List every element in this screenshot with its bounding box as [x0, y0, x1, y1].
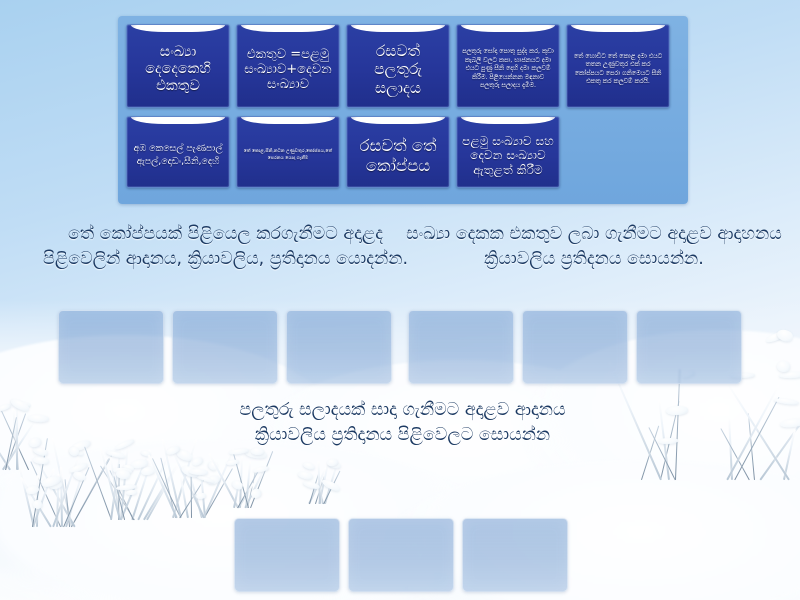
card-enter-two-numbers[interactable]: පළමු සංඛ්‍යාව සහ දෙවන සංඛ්‍යාව ඇතුළත් කි… [456, 116, 560, 188]
card-label: සංඛ්‍යා දෙදෙකෙහි එකතුව [132, 44, 224, 95]
snow-clump [191, 456, 204, 468]
card-tea-making-process[interactable]: තේ හොඩිට තේ කොළ දමා එයට තතන උණුවතුර එක් … [566, 24, 670, 108]
snow-clump [666, 405, 688, 416]
card-tasty-fruit-salad[interactable]: රසවත් පලතුරු සලාදය [346, 24, 450, 108]
snow-cap-icon [131, 116, 225, 124]
snow-cap-icon [351, 116, 445, 124]
card-label: එකතුව =පළමු සංඛ්‍යාව+දෙවන සංඛ්‍යාව [242, 47, 334, 93]
snow-clump [303, 461, 316, 470]
question-fruitsalad: පලතුරු සලාදයක් සාදා ගැනීමට අදාළව ආදානය ක… [205, 398, 600, 449]
card-row-1: සංඛ්‍යා දෙදෙකෙහි එකතුවඑකතුව =පළමු සංඛ්‍ය… [126, 24, 670, 108]
dropzone-salad-output[interactable] [462, 518, 568, 592]
grass-blade [734, 397, 779, 481]
card-label: අඹ කෙසෙල් පැණපාල් ඇපල්,දොඩං,සීනි,දෙහි [132, 143, 224, 167]
snow-cap-icon [241, 116, 335, 124]
snow-clump [658, 437, 678, 444]
snow-clump [33, 456, 49, 465]
card-sum-formula[interactable]: එකතුව =පළමු සංඛ්‍යාව+දෙවන සංඛ්‍යාව [236, 24, 340, 108]
grass-blade [60, 467, 63, 527]
dropzone-tea-process[interactable] [172, 310, 278, 384]
card-label: රසවත් තේ කෝප්පය [352, 136, 444, 175]
card-row-2: අඹ කෙසෙල් පැණපාල් ඇපල්,දොඩං,සීනි,දෙහිතේ … [126, 116, 560, 188]
card-label: තේ හොඩිට තේ කොළ දමා එයට තතන උණුවතුර එක් … [572, 53, 664, 87]
card-tray: සංඛ්‍යා දෙදෙකෙහි එකතුවඑකතුව =පළමු සංඛ්‍ය… [118, 16, 688, 204]
card-label: තේ කොළ,සීනි,නටන උණුවතුර,කෝප්පය,තේ පෙරනය … [242, 149, 334, 162]
snow-cap-icon [241, 24, 335, 32]
question-sum: සංඛ්‍යා දෙකක එකතුව ලබා ගැනීමට අදාළව ආදාහ… [405, 222, 783, 273]
snow-clump [297, 471, 313, 481]
snow-clump [195, 492, 206, 500]
grass-tuft [0, 400, 30, 470]
snow-cap-icon [461, 24, 555, 32]
snow-clump [189, 469, 208, 475]
grass-tuft [300, 452, 328, 504]
question-tea: තේ කෝප්පයක් පිළියෙල කරගැනීමට අදාළද පිළිව… [38, 222, 413, 273]
card-tea-ingredients[interactable]: තේ කොළ,සීනි,නටන උණුවතුර,කෝප්පය,තේ පෙරනය … [236, 116, 340, 188]
grass-tuft [232, 446, 264, 508]
card-sum-of-two-numbers[interactable]: සංඛ්‍යා දෙදෙකෙහි එකතුව [126, 24, 230, 108]
card-label: පළමු සංඛ්‍යාව සහ දෙවන සංඛ්‍යාව ඇතුළත් කි… [462, 134, 554, 177]
dropzone-tea-output[interactable] [286, 310, 392, 384]
card-tasty-cup-of-tea[interactable]: රසවත් තේ කෝප්පය [346, 116, 450, 188]
snow-clump [776, 360, 790, 371]
card-label: පලතුරු සෝදා පොතු සුද්ද කර, කුඩා කැබලි වල… [462, 48, 554, 91]
snow-clump [116, 470, 130, 480]
grass-blade [720, 428, 750, 480]
snow-clump [126, 489, 137, 495]
snow-clump [106, 450, 126, 459]
snow-cap-icon [461, 116, 555, 124]
grass-tuft [108, 440, 148, 520]
snow-clump [114, 437, 136, 451]
grass-blade [16, 403, 18, 470]
card-fruit-ingredients[interactable]: අඹ කෙසෙල් පැණපාල් ඇපල්,දොඩං,සීනි,දෙහි [126, 116, 230, 188]
dropzone-salad-process[interactable] [348, 518, 454, 592]
dropzone-sum-input[interactable] [408, 310, 514, 384]
dropzone-sum-output[interactable] [636, 310, 742, 384]
dropzone-salad-input[interactable] [234, 518, 340, 592]
snow-cap-icon [351, 24, 445, 32]
card-fruit-salad-process[interactable]: පලතුරු සෝදා පොතු සුද්ද කර, කුඩා කැබලි වල… [456, 24, 560, 108]
dropzone-sum-process[interactable] [522, 310, 628, 384]
snow-cap-icon [131, 24, 225, 32]
snow-cap-icon [571, 24, 665, 32]
grass-blade [675, 369, 680, 480]
card-label: රසවත් පලතුරු සලාදය [352, 42, 444, 97]
dropzone-tea-input[interactable] [58, 310, 164, 384]
